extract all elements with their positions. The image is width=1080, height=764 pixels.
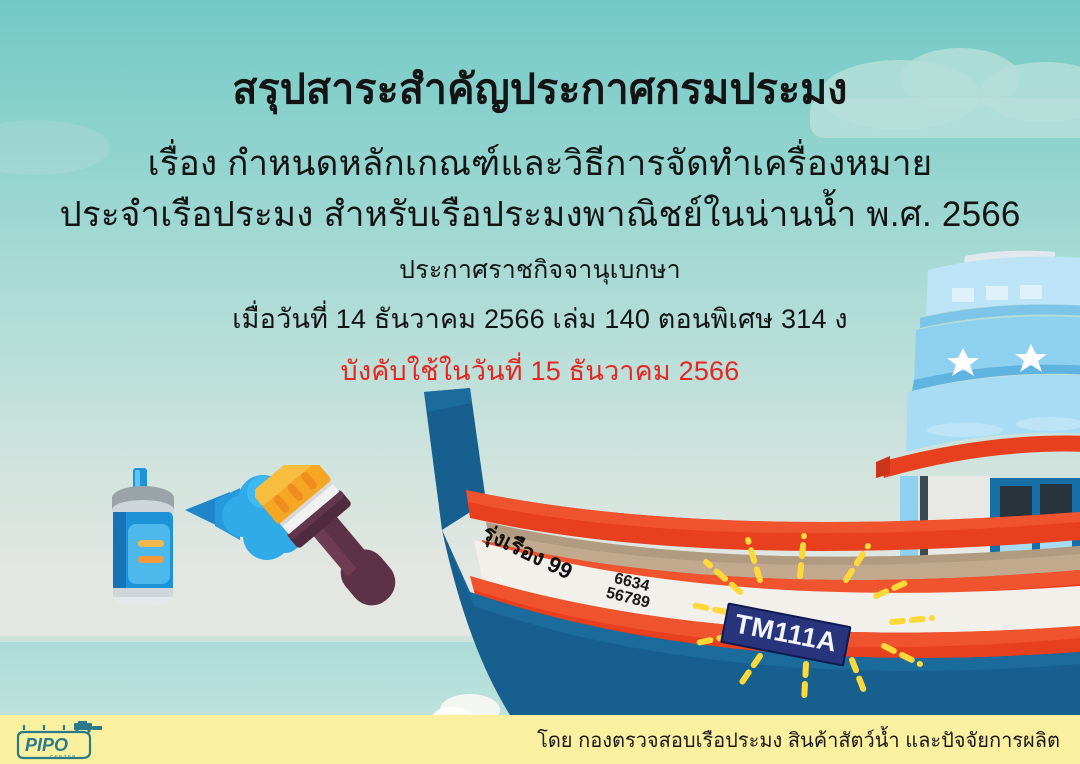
pipo-logo-subtext: CENTER <box>50 754 77 759</box>
pipo-logo-text: PIPO <box>25 735 68 755</box>
page-title: สรุปสาระสำคัญประกาศกรมประมง <box>0 57 1080 122</box>
infographic-poster: สรุปสาระสำคัญประกาศกรมประมง เรื่อง กำหนด… <box>0 0 1080 764</box>
fishing-boat-illustration <box>0 240 1080 730</box>
footer-bar: PIPO CENTER โดย กองตรวจสอบเรือประมง สินค… <box>0 715 1080 764</box>
boat-cabin <box>876 251 1080 478</box>
subtitle-line-1: เรื่อง กำหนดหลักเกณฑ์และวิธีการจัดทำเครื… <box>0 136 1080 191</box>
subtitle-line-2: ประจำเรือประมง สำหรับเรือประมงพาณิชย์ในน… <box>0 187 1080 242</box>
footer-credit-text: โดย กองตรวจสอบเรือประมง สินค้าสัตว์น้ำ แ… <box>537 724 1060 756</box>
pipo-logo: PIPO CENTER <box>14 721 110 761</box>
